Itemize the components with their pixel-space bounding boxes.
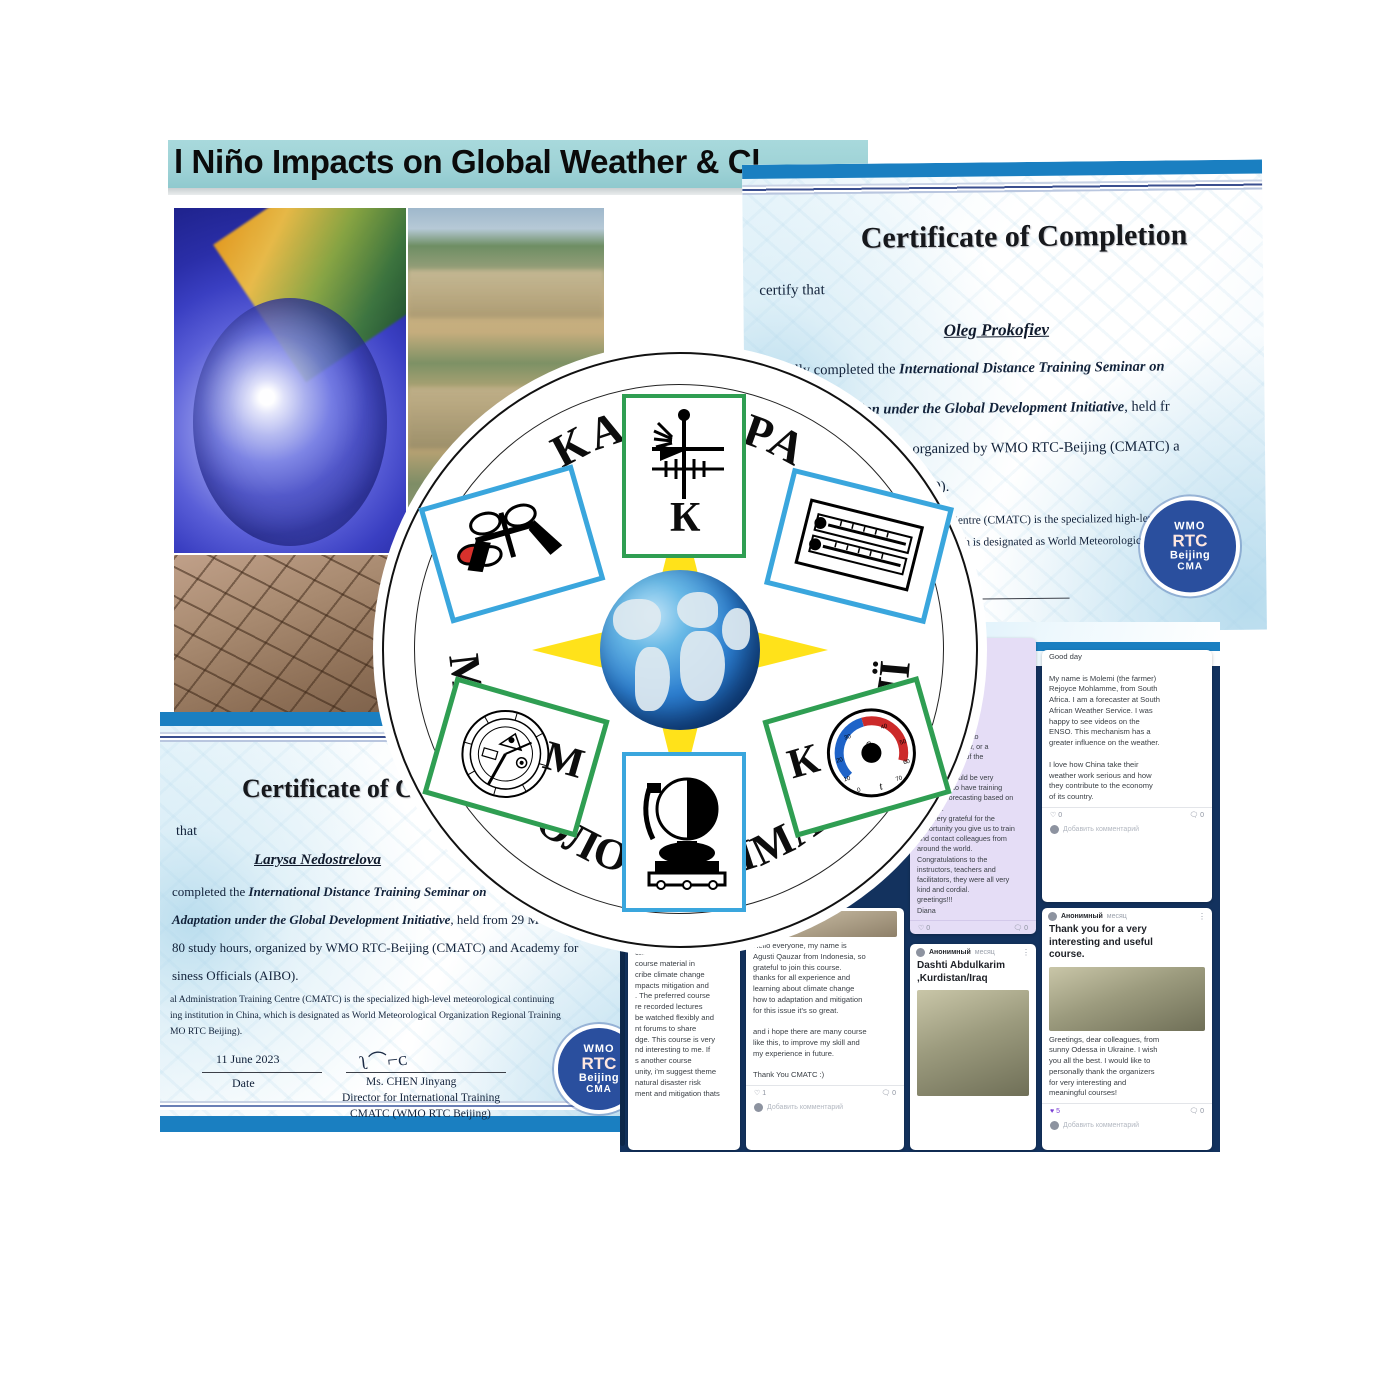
comment-timestamp: месяц bbox=[975, 949, 995, 956]
seal-bottom-text: CMA bbox=[586, 1084, 612, 1095]
add-comment-action[interactable]: Добавить комментарий bbox=[1042, 1118, 1212, 1135]
certificate-certify-line: that bbox=[176, 824, 197, 840]
add-comment-action[interactable]: Добавить комментарий bbox=[1042, 822, 1212, 839]
certificate-date-value: 11 June 2023 bbox=[216, 1052, 280, 1067]
certificate-top-rules bbox=[742, 180, 1262, 195]
certificate-recipient-name: Larysa Nedostrelova bbox=[254, 852, 381, 869]
comment-card-learned-a-lot[interactable]: I learned a lot about ge from all over t… bbox=[628, 914, 740, 1150]
seal-city-text: Beijing bbox=[1170, 549, 1210, 561]
comment-title: Dashti Abdulkarim ,Kurdistan/Iraq bbox=[910, 959, 1036, 988]
comment-body: Good day My name is Molemi (the farmer) … bbox=[1042, 650, 1212, 807]
collage-canvas: l Niño Impacts on Global Weather & Cl Ce… bbox=[0, 0, 1400, 1384]
sunshine-recorder-card bbox=[622, 752, 746, 912]
sunshine-recorder-icon bbox=[631, 761, 737, 903]
comment-card-odessa-thanks[interactable]: Анонимный месяц ⋮ Thank you for a very i… bbox=[1042, 908, 1212, 1150]
thermometer-box-icon bbox=[783, 484, 936, 608]
comment-photo[interactable] bbox=[1049, 967, 1205, 1031]
wind-vane-card: К bbox=[622, 394, 746, 558]
certificate-line-5: al Administration Training Centre (CMATC… bbox=[170, 994, 554, 1005]
certificate-line-7: MO RTC Beijing). bbox=[170, 1026, 242, 1037]
certificate-line-2-suffix: , held fr bbox=[1124, 399, 1170, 415]
certificate-line-4: siness Officials (AIBO). bbox=[172, 968, 299, 984]
signature-rule bbox=[346, 1072, 506, 1073]
avatar bbox=[1050, 1121, 1059, 1130]
comment-header: Анонимный месяц ⋮ bbox=[1042, 908, 1212, 923]
add-comment-action[interactable]: Добавить комментарий bbox=[746, 1100, 904, 1117]
add-comment-label: Добавить комментарий bbox=[767, 1104, 843, 1111]
signer-title-2: CMATC (WMO RTC Beijing) bbox=[350, 1108, 491, 1120]
avatar bbox=[754, 1103, 763, 1112]
comment-body: Hello everyone, my name is Agusti Qauzar… bbox=[746, 939, 904, 1085]
comment-actions[interactable]: ♡ 1 🗨 0 bbox=[746, 1085, 904, 1100]
more-options-icon[interactable]: ⋮ bbox=[1022, 950, 1030, 956]
seal-city-text: Beijing bbox=[579, 1072, 619, 1084]
logo-letter-k-top: К bbox=[670, 494, 700, 542]
comment-author: Анонимный bbox=[1061, 913, 1103, 920]
add-comment-label: Добавить комментарий bbox=[1063, 1122, 1139, 1129]
comment-title: Thank you for a very interesting and use… bbox=[1042, 923, 1212, 965]
thermometer-dial-icon: C t 3040 2050 1060 070 bbox=[815, 696, 929, 810]
comment-header: Анонимный месяц ⋮ bbox=[910, 944, 1036, 959]
comment-card-molemi-mohlamme[interactable]: Good day My name is Molemi (the farmer) … bbox=[1042, 650, 1212, 902]
avatar bbox=[916, 948, 925, 957]
globe-icon bbox=[600, 570, 760, 730]
signer-name: Ms. CHEN Jinyang bbox=[366, 1076, 456, 1088]
comment-card-dashti-abdulkarim[interactable]: Анонимный месяц ⋮ Dashti Abdulkarim ,Kur… bbox=[910, 944, 1036, 1150]
hurricane-satellite-image bbox=[174, 208, 406, 553]
like-count[interactable]: ♡ 0 bbox=[1050, 811, 1062, 819]
certificate-recipient-name: Oleg Prokofiev bbox=[944, 320, 1049, 341]
comment-body: Greetings, dear colleagues, from sunny O… bbox=[1042, 1033, 1212, 1104]
seal-mid-text: RTC bbox=[1172, 532, 1207, 549]
avatar bbox=[1048, 912, 1057, 921]
comment-actions[interactable]: ♡ 0 🗨 0 bbox=[1042, 807, 1212, 822]
like-count[interactable]: ♡ 1 bbox=[754, 1089, 766, 1097]
certificate-line-6: ing institution in China, which is desig… bbox=[170, 1010, 561, 1021]
more-options-icon[interactable]: ⋮ bbox=[1198, 914, 1206, 920]
certificate-certify-line: certify that bbox=[759, 282, 825, 300]
avatar bbox=[1050, 825, 1059, 834]
seal-mid-text: RTC bbox=[582, 1055, 617, 1072]
like-count[interactable]: ♥ 5 bbox=[1050, 1108, 1060, 1115]
add-comment-label: Добавить комментарий bbox=[1063, 826, 1139, 833]
signer-title-1: Director for International Training bbox=[342, 1092, 500, 1104]
date-rule bbox=[202, 1072, 322, 1073]
certificate-line-1-prefix: completed the bbox=[172, 884, 249, 899]
certificate-heading: Certificate of Completion bbox=[861, 218, 1188, 255]
comment-author: Анонимный bbox=[929, 949, 971, 956]
signature-mark: ʅ⌒⌐ᴄ bbox=[359, 1044, 409, 1076]
slide-title: l Niño Impacts on Global Weather & Cl bbox=[174, 143, 760, 181]
comment-actions[interactable]: ♥ 5 🗨 0 bbox=[1042, 1103, 1212, 1118]
reply-count[interactable]: 🗨 0 bbox=[881, 1089, 896, 1097]
reply-count[interactable]: 🗨 0 bbox=[1189, 811, 1204, 819]
wmo-rtc-beijing-seal: WMO RTC Beijing CMA bbox=[1144, 500, 1237, 593]
reply-count[interactable]: 🗨 0 bbox=[1013, 924, 1028, 932]
department-meteorology-climatology-logo: КАФЕДРА МЕТЕОРОЛОГІЇ КЛІМАТОЛОГІЇ та bbox=[382, 352, 978, 948]
logo-letter-k-right: К bbox=[782, 735, 825, 790]
comment-timestamp: месяц bbox=[1107, 913, 1127, 920]
anemometer-icon bbox=[438, 481, 587, 607]
reply-count[interactable]: 🗨 0 bbox=[1189, 1107, 1204, 1115]
certificate-date-label: Date bbox=[232, 1076, 255, 1091]
comment-photo[interactable] bbox=[917, 990, 1029, 1096]
seal-bottom-text: CMA bbox=[1177, 561, 1203, 572]
